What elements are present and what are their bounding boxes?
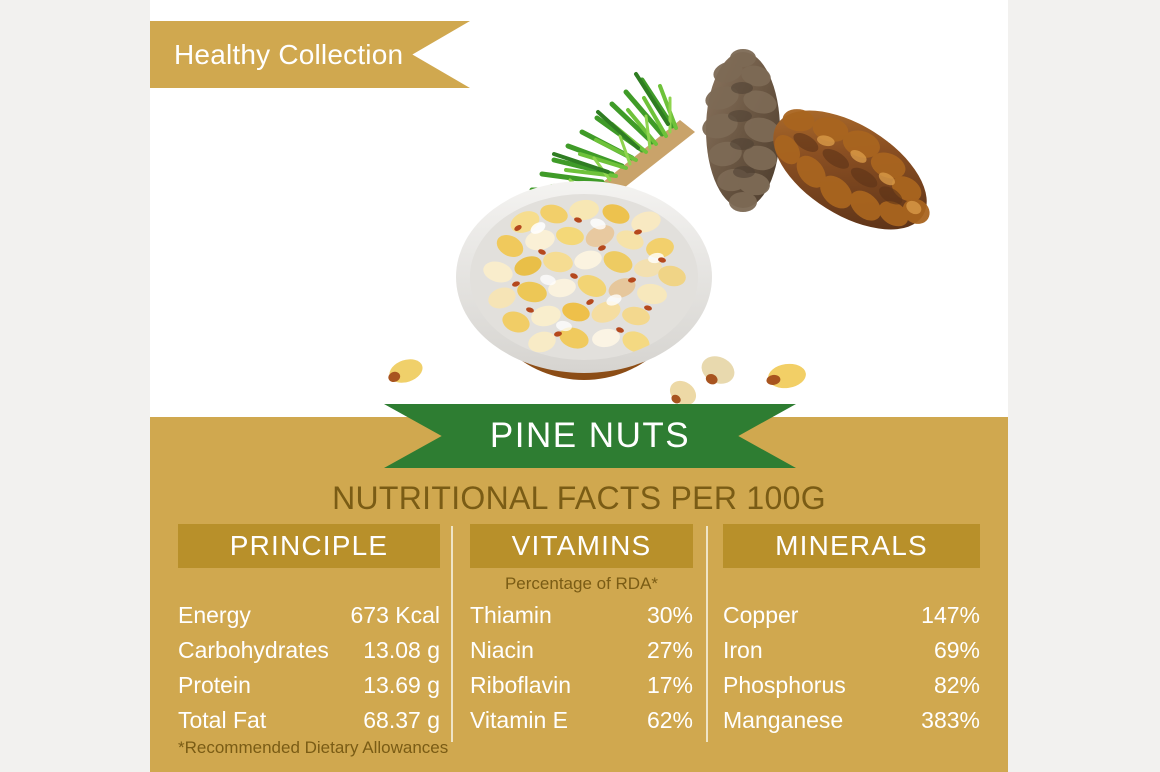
row-value: 17% (647, 668, 693, 703)
row-value: 68.37 g (363, 703, 440, 738)
column-header-principle: PRINCIPLE (178, 524, 440, 568)
row-label: Total Fat (178, 703, 274, 738)
infographic-card: Healthy Collection PINE NUTS NUTRITIONAL… (150, 0, 1008, 772)
column-header-vitamins: VITAMINS (470, 524, 693, 568)
table-row: Vitamin E 62% (470, 703, 693, 738)
rda-footnote: *Recommended Dietary Allowances (178, 738, 448, 758)
table-row: Iron 69% (723, 633, 980, 668)
table-row: Copper 147% (723, 598, 980, 633)
column-header-minerals: MINERALS (723, 524, 980, 568)
pine-nuts-banner: PINE NUTS (384, 404, 796, 468)
subnote-spacer (723, 568, 980, 594)
row-label: Copper (723, 598, 806, 633)
row-value: 82% (934, 668, 980, 703)
table-row: Niacin 27% (470, 633, 693, 668)
table-row: Manganese 383% (723, 703, 980, 738)
page-title: NUTRITIONAL FACTS PER 100G (150, 480, 1008, 517)
row-value: 383% (921, 703, 980, 738)
table-row: Riboflavin 17% (470, 668, 693, 703)
pine-nuts-title: PINE NUTS (490, 416, 690, 456)
healthy-collection-label: Healthy Collection (174, 39, 403, 71)
column-header-label: PRINCIPLE (230, 530, 389, 562)
column-header-label: MINERALS (775, 530, 928, 562)
row-value: 30% (647, 598, 693, 633)
nutrition-table: PRINCIPLE Energy 673 Kcal Carbohydrates … (150, 524, 1008, 772)
table-row: Energy 673 Kcal (178, 598, 440, 633)
column-principle: PRINCIPLE Energy 673 Kcal Carbohydrates … (150, 524, 450, 772)
rows-principle: Energy 673 Kcal Carbohydrates 13.08 g Pr… (178, 598, 440, 738)
row-value: 69% (934, 633, 980, 668)
row-label: Iron (723, 633, 771, 668)
row-label: Riboflavin (470, 668, 579, 703)
row-value: 147% (921, 598, 980, 633)
table-row: Carbohydrates 13.08 g (178, 633, 440, 668)
small-pine-cone-icon (700, 49, 783, 212)
table-row: Phosphorus 82% (723, 668, 980, 703)
rows-minerals: Copper 147% Iron 69% Phosphorus 82% Mang… (723, 598, 980, 738)
row-value: 27% (647, 633, 693, 668)
row-value: 13.08 g (363, 633, 440, 668)
table-row: Thiamin 30% (470, 598, 693, 633)
row-value: 13.69 g (363, 668, 440, 703)
row-label: Protein (178, 668, 259, 703)
infographic-stage: Healthy Collection PINE NUTS NUTRITIONAL… (0, 0, 1160, 772)
row-label: Carbohydrates (178, 633, 337, 668)
subnote-spacer (178, 568, 440, 594)
column-vitamins: VITAMINS Percentage of RDA* Thiamin 30% … (450, 524, 703, 772)
row-label: Thiamin (470, 598, 560, 633)
row-value: 62% (647, 703, 693, 738)
row-label: Niacin (470, 633, 542, 668)
row-label: Vitamin E (470, 703, 576, 738)
row-label: Energy (178, 598, 259, 633)
row-label: Manganese (723, 703, 851, 738)
large-pine-cone-icon (751, 84, 952, 256)
table-row: Protein 13.69 g (178, 668, 440, 703)
rda-note: Percentage of RDA* (470, 574, 693, 594)
column-minerals: MINERALS Copper 147% Iron 69% Phosphorus… (703, 524, 1008, 772)
row-label: Phosphorus (723, 668, 854, 703)
row-value: 673 Kcal (350, 598, 440, 633)
rows-vitamins: Thiamin 30% Niacin 27% Riboflavin 17% Vi… (470, 598, 693, 738)
table-row: Total Fat 68.37 g (178, 703, 440, 738)
column-header-label: VITAMINS (512, 530, 652, 562)
